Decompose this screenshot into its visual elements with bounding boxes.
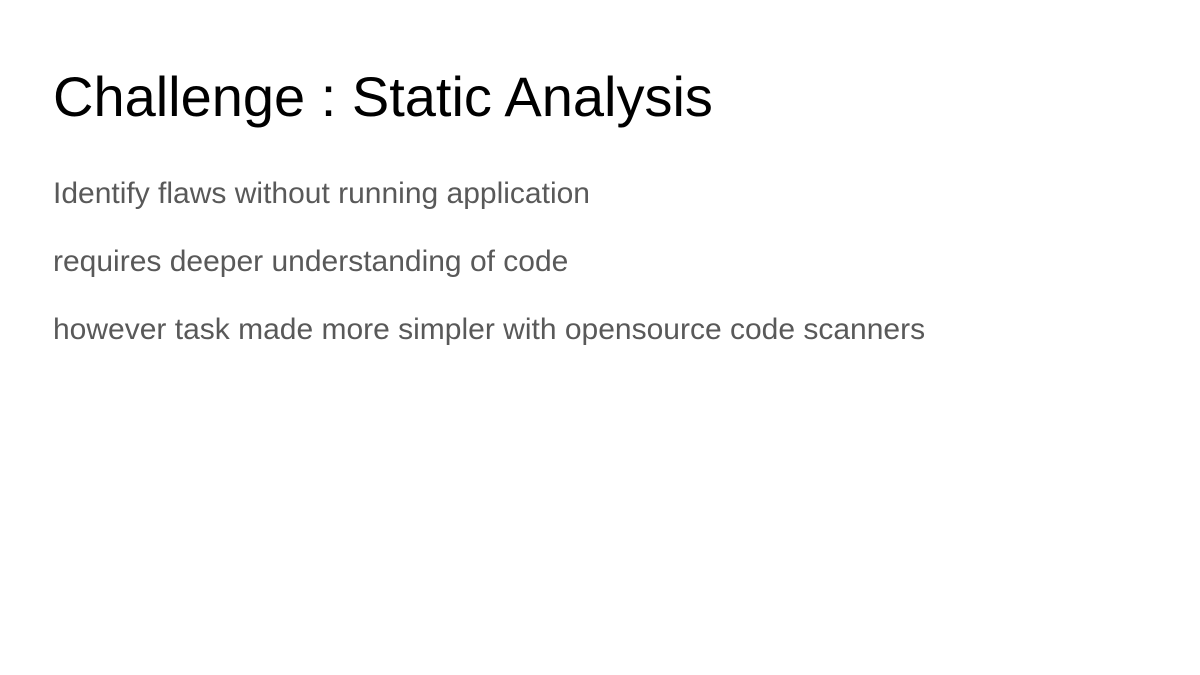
body-line: Identify flaws without running applicati… [53, 160, 1153, 228]
presentation-slide: Challenge : Static Analysis Identify fla… [0, 0, 1200, 675]
body-line: however task made more simpler with open… [53, 296, 1153, 364]
body-line: requires deeper understanding of code [53, 228, 1153, 296]
slide-body-text: Identify flaws without running applicati… [53, 160, 1153, 364]
page-title: Challenge : Static Analysis [53, 66, 1143, 129]
